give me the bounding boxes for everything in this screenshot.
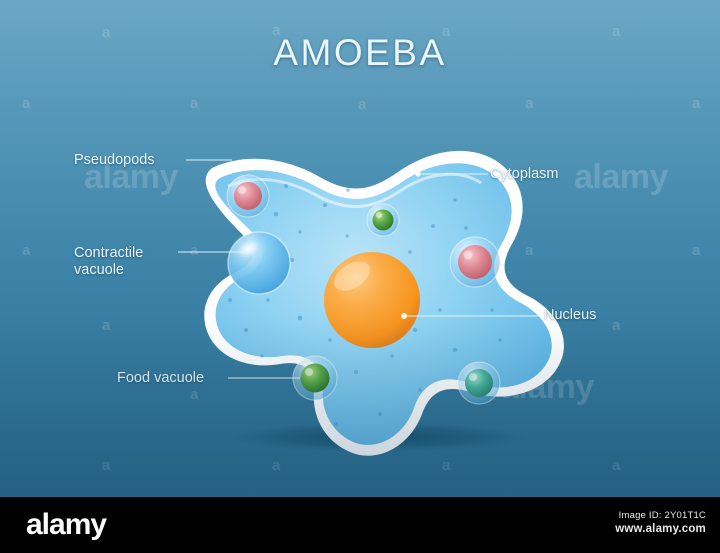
footer-metadata: Image ID: 2Y01T1C www.alamy.com: [615, 509, 706, 537]
alamy-logo[interactable]: alamy: [26, 510, 106, 540]
label-food-vacuole: Food vacuole: [117, 370, 204, 387]
label-pseudopods: Pseudopods: [74, 152, 155, 169]
label-cytoplasm: Cytoplasm: [490, 166, 559, 183]
image-id-text: Image ID: 2Y01T1C: [615, 509, 706, 522]
page-title: AMOEBA: [0, 32, 720, 74]
alamy-footer-bar: alamy Image ID: 2Y01T1C www.alamy.com: [0, 497, 720, 553]
anchor-dot-cytoplasm: [415, 171, 420, 176]
food-vacuole-bottom-right: [458, 362, 500, 404]
alamy-url[interactable]: www.alamy.com: [615, 522, 706, 537]
food-vacuole-top-left: [227, 175, 269, 217]
callout-anchor-dots: [415, 171, 420, 176]
contractile-vacuole-body: [228, 232, 290, 294]
label-contractile-vacuole: Contractile vacuole: [74, 245, 143, 279]
screenshot-root: a a a a a a a a a alamy alamy alamy alam…: [0, 0, 720, 553]
label-nucleus: Nucleus: [544, 307, 596, 324]
food-vacuole-right: [450, 237, 500, 287]
nucleus-body: [324, 252, 420, 348]
amoeba-illustration: a a a a a a a a a alamy alamy alamy alam…: [0, 0, 720, 497]
food-vacuole-upper-middle: [367, 204, 399, 236]
